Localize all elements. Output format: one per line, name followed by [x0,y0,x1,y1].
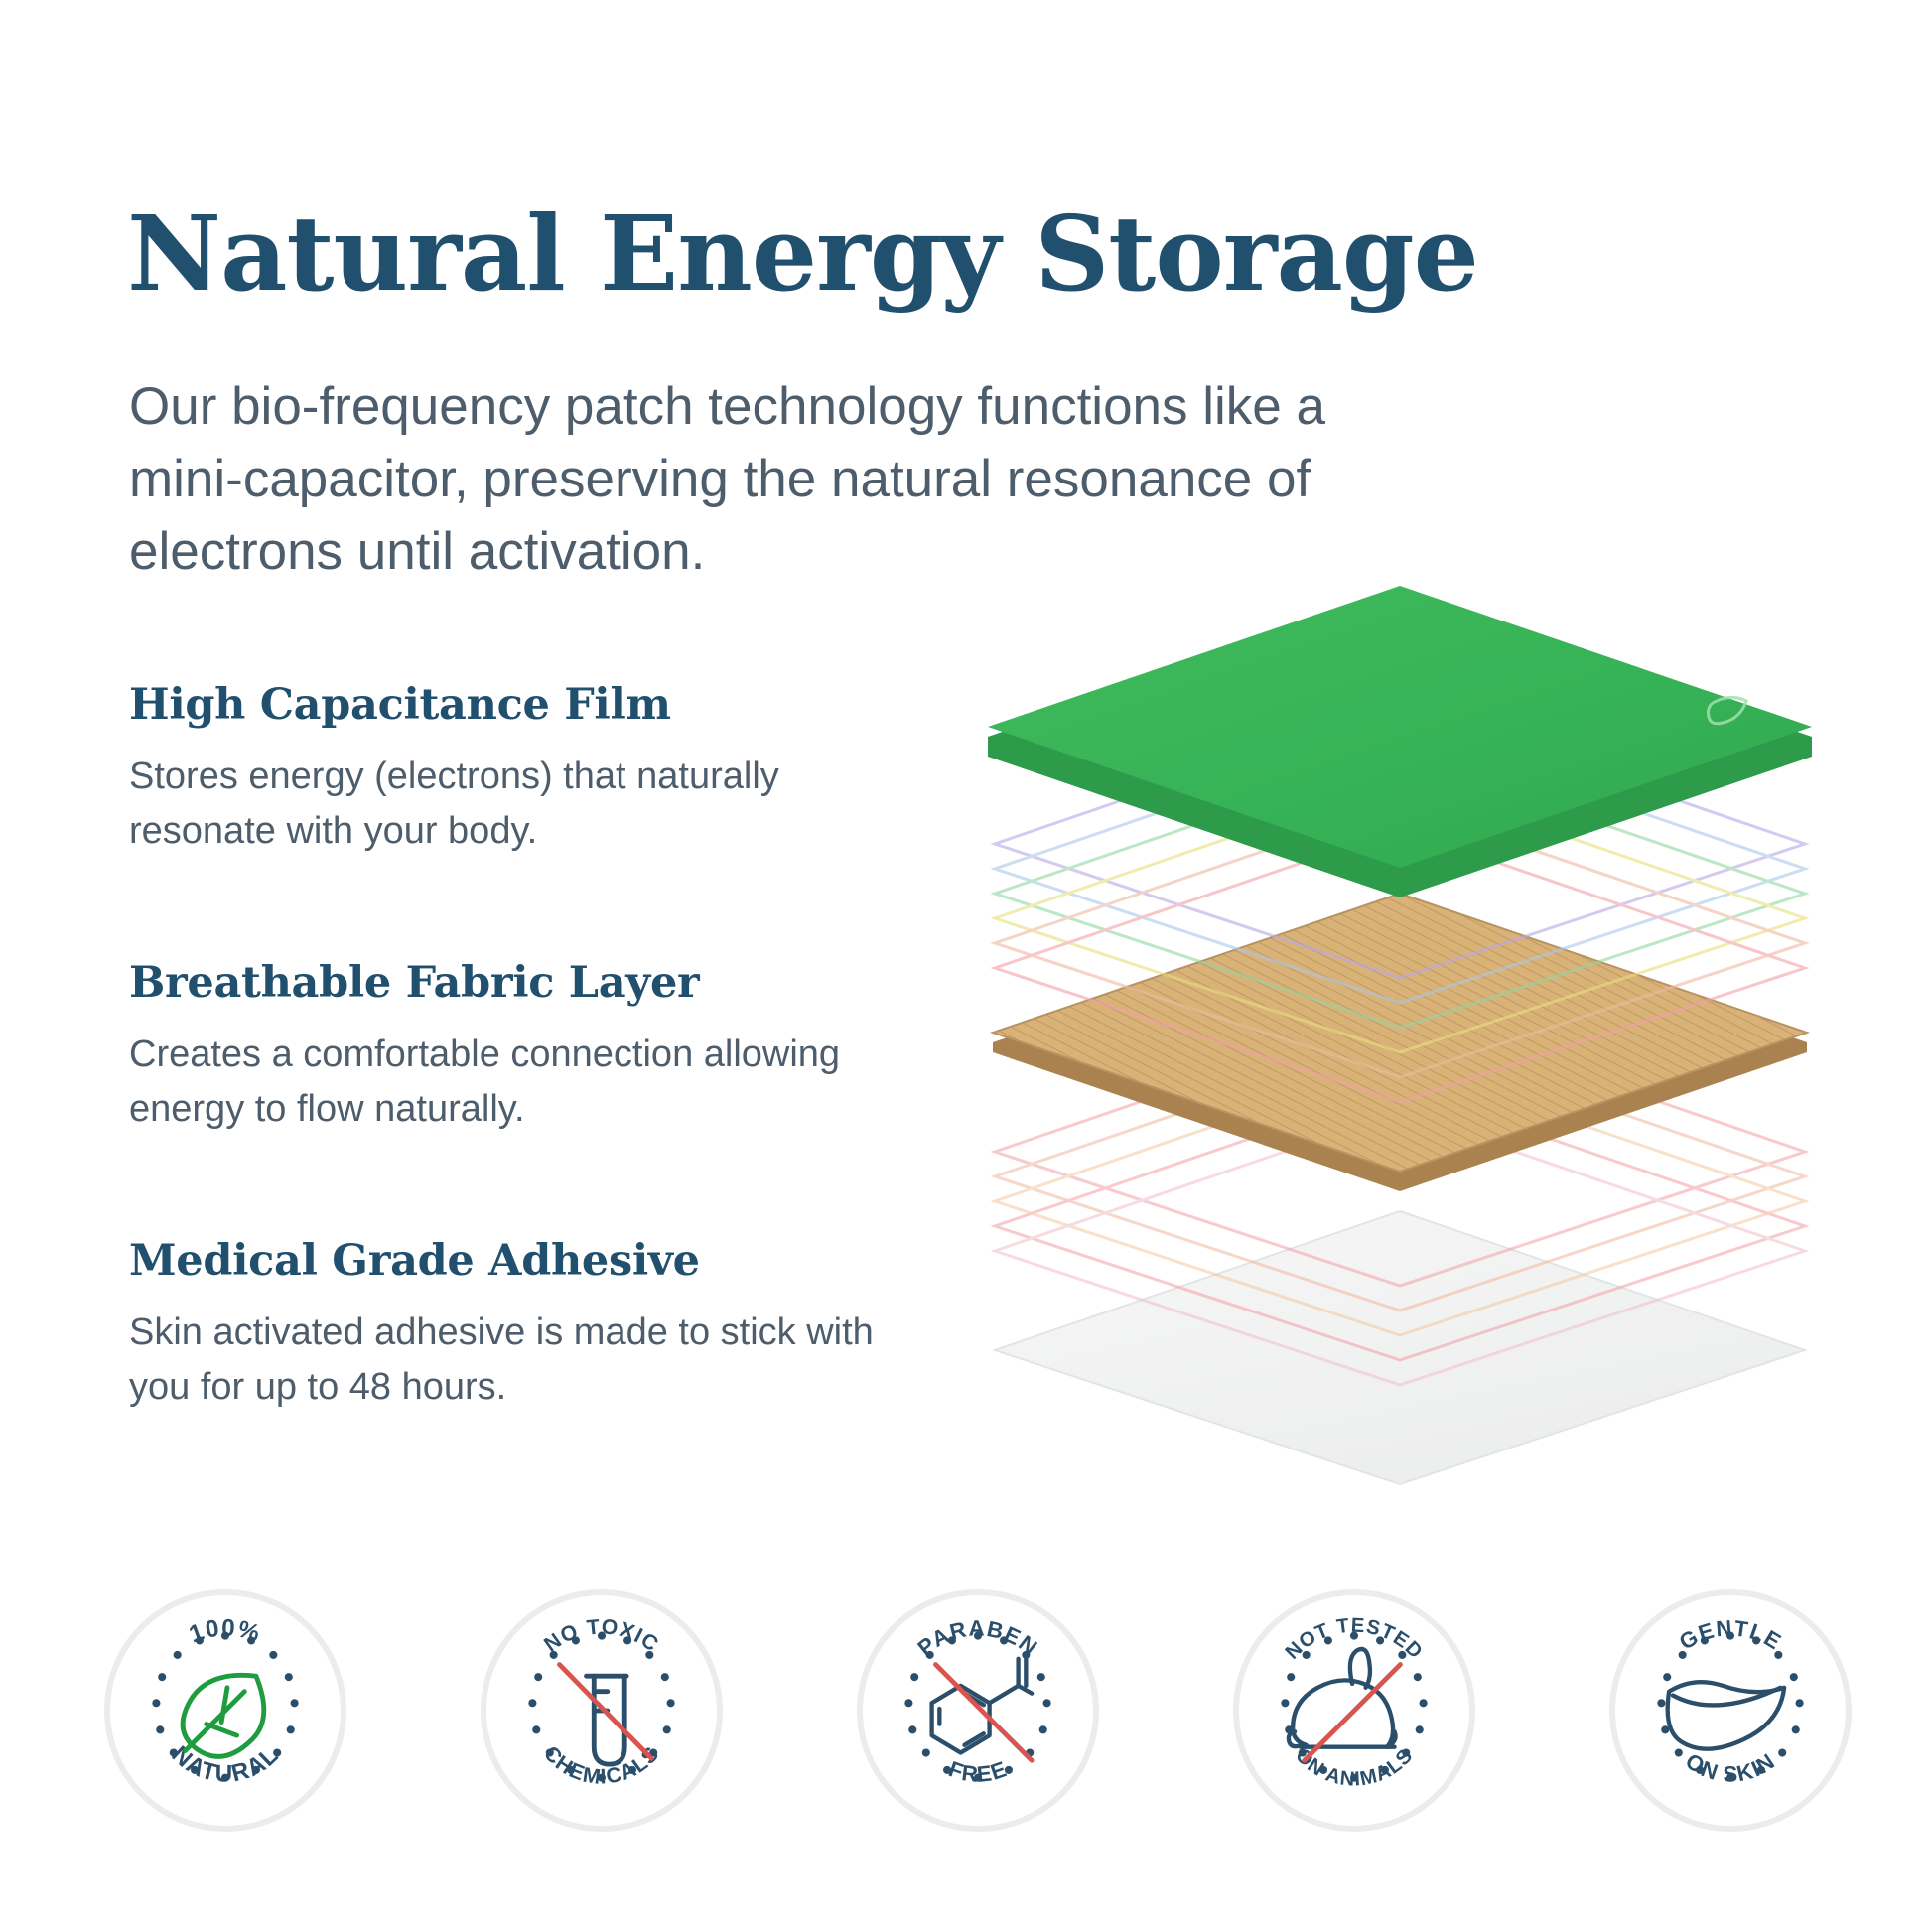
badge-bottom-label: FREE [945,1756,1010,1787]
page-subtitle: Our bio-frequency patch technology funct… [129,370,1380,588]
feature-heading: Medical Grade Adhesive [129,1236,884,1286]
slash-icon [559,1665,651,1759]
page-title: Natural Energy Storage [127,199,1478,310]
certification-badge-row: 100% NATURAL [104,1587,1852,1835]
feature-item-medical-grade-adhesive: Medical Grade Adhesive Skin activated ad… [129,1236,884,1415]
exploded-patch-diagram [973,586,1827,1459]
feather-icon [1668,1682,1784,1749]
feature-item-breathable-fabric-layer: Breathable Fabric Layer Creates a comfor… [129,958,884,1137]
test-tube-icon [587,1676,627,1764]
leaf-icon [183,1675,264,1756]
infographic-page: Natural Energy Storage Our bio-frequency… [0,0,1932,1932]
badge-top-label: PARABEN [913,1616,1043,1661]
rabbit-icon [1289,1649,1396,1747]
badge-not-tested-on-animals: NOT TESTED ON ANIMALS [1233,1589,1475,1832]
badge-top-label: 100% [186,1614,264,1648]
feature-body: Stores energy (electrons) that naturally… [129,750,884,859]
patch-layer-high-capacitance-film [988,586,1812,897]
feature-item-high-capacitance-film: High Capacitance Film Stores energy (ele… [129,680,884,859]
badge-bottom-label: ON SKIN [1681,1748,1779,1787]
badge-gentle-on-skin: GENTLE ON SKIN [1609,1589,1852,1832]
badge-top-label: GENTLE [1675,1615,1786,1655]
badge-bottom-label: NATURAL [167,1741,285,1788]
feature-body: Creates a comfortable connection allowin… [129,1028,884,1137]
feature-heading: High Capacitance Film [129,680,884,730]
feature-list: High Capacitance Film Stores energy (ele… [129,680,884,1416]
badge-100-percent-natural: 100% NATURAL [104,1589,346,1832]
patch-layer-medical-grade-adhesive [995,1211,1805,1484]
badge-top-label: NO TOXIC [540,1614,664,1656]
badge-no-toxic-chemicals: NO TOXIC CHEMICALS [481,1589,723,1832]
feature-body: Skin activated adhesive is made to stick… [129,1306,884,1415]
feature-heading: Breathable Fabric Layer [129,958,884,1008]
patch-layer-breathable-fabric [993,894,1807,1191]
badge-bottom-label: ON ANIMALS [1291,1744,1418,1790]
badge-dot-ring [1657,1632,1803,1782]
badge-paraben-free: PARABEN FREE [857,1589,1099,1832]
